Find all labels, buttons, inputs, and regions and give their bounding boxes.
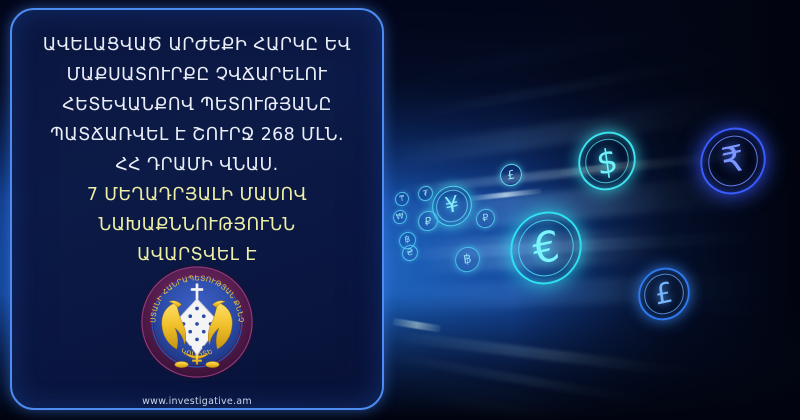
coin-won-symbol: ₩: [396, 212, 405, 222]
coin-ruble-symbol: ₽: [424, 215, 432, 227]
coin-euro-symbol: €: [530, 224, 562, 271]
headline-line-1: ԱՎԵԼԱՑՎԱԾ ԱՐԺԵՔԻ ՀԱՐԿԸ ԵՎ: [24, 30, 370, 60]
coin-dollar-symbol: $: [594, 142, 619, 179]
headline-line-3: ՀԵՏԵՎԱՆՔՈՎ ՊԵՏՈՒԹՅԱՆԸ: [24, 90, 370, 120]
headline-line-4: ՊԱՏՃԱՌՎԵԼ Է ՇՈՒՐՋ 268 ՄԼՆ.: [24, 120, 370, 150]
coin-tenge-symbol: ₸: [399, 195, 405, 204]
headline-line-2: ՄԱՔՍԱՏՈՒՐՔԸ ՉՎՃԱՐԵԼՈՒ: [24, 60, 370, 90]
info-panel: ԱՎԵԼԱՑՎԱԾ ԱՐԺԵՔԻ ՀԱՐԿԸ ԵՎ ՄԱՔՍԱՏՈՒՐՔԸ ՉՎ…: [10, 8, 384, 410]
emblem-container: ՀԱՅԱՍՏԱՆԻ ՀԱՆՐԱՊԵՏՈՒԹՅԱՆ ՔՆՆՉԱԿԱՆ ԿՈՄԻՏԵ: [12, 264, 382, 380]
coin-rupee-symbol: ₹: [719, 141, 746, 181]
headline-line-5: ՀՀ ԴՐԱՄԻ ՎՆԱՍ.: [24, 150, 370, 180]
headline-line-6: 7 ՄԵՂԱԴՐՅԱԼԻ ՄԱՍՈՎ: [24, 180, 370, 210]
headline-line-7: ՆԱԽԱՔՆՆՈՒԹՅՈՒՆՆ: [24, 210, 370, 240]
coin-baht-symbol: ฿: [463, 252, 473, 267]
coin-pound-small-symbol: £: [506, 168, 515, 181]
website-url[interactable]: www.investigative.am: [12, 396, 382, 407]
coin-pound-symbol: £: [653, 278, 674, 309]
poster-canvas: $ € ₹ £ ¥ £ ₽ ₽: [0, 0, 800, 420]
coin-yen-symbol: ¥: [444, 194, 461, 219]
investigative-committee-emblem-icon: ՀԱՅԱՍՏԱՆԻ ՀԱՆՐԱՊԵՏՈՒԹՅԱՆ ՔՆՆՉԱԿԱՆ ԿՈՄԻՏԵ: [139, 264, 255, 380]
headline-block: ԱՎԵԼԱՑՎԱԾ ԱՐԺԵՔԻ ՀԱՐԿԸ ԵՎ ՄԱՔՍԱՏՈՒՐՔԸ ՉՎ…: [24, 30, 370, 270]
coin-hryvnia-symbol: ₴: [406, 248, 414, 258]
coin-ruble-2-symbol: ₽: [482, 213, 490, 224]
coin-tugrik-symbol: ₮: [422, 189, 428, 198]
